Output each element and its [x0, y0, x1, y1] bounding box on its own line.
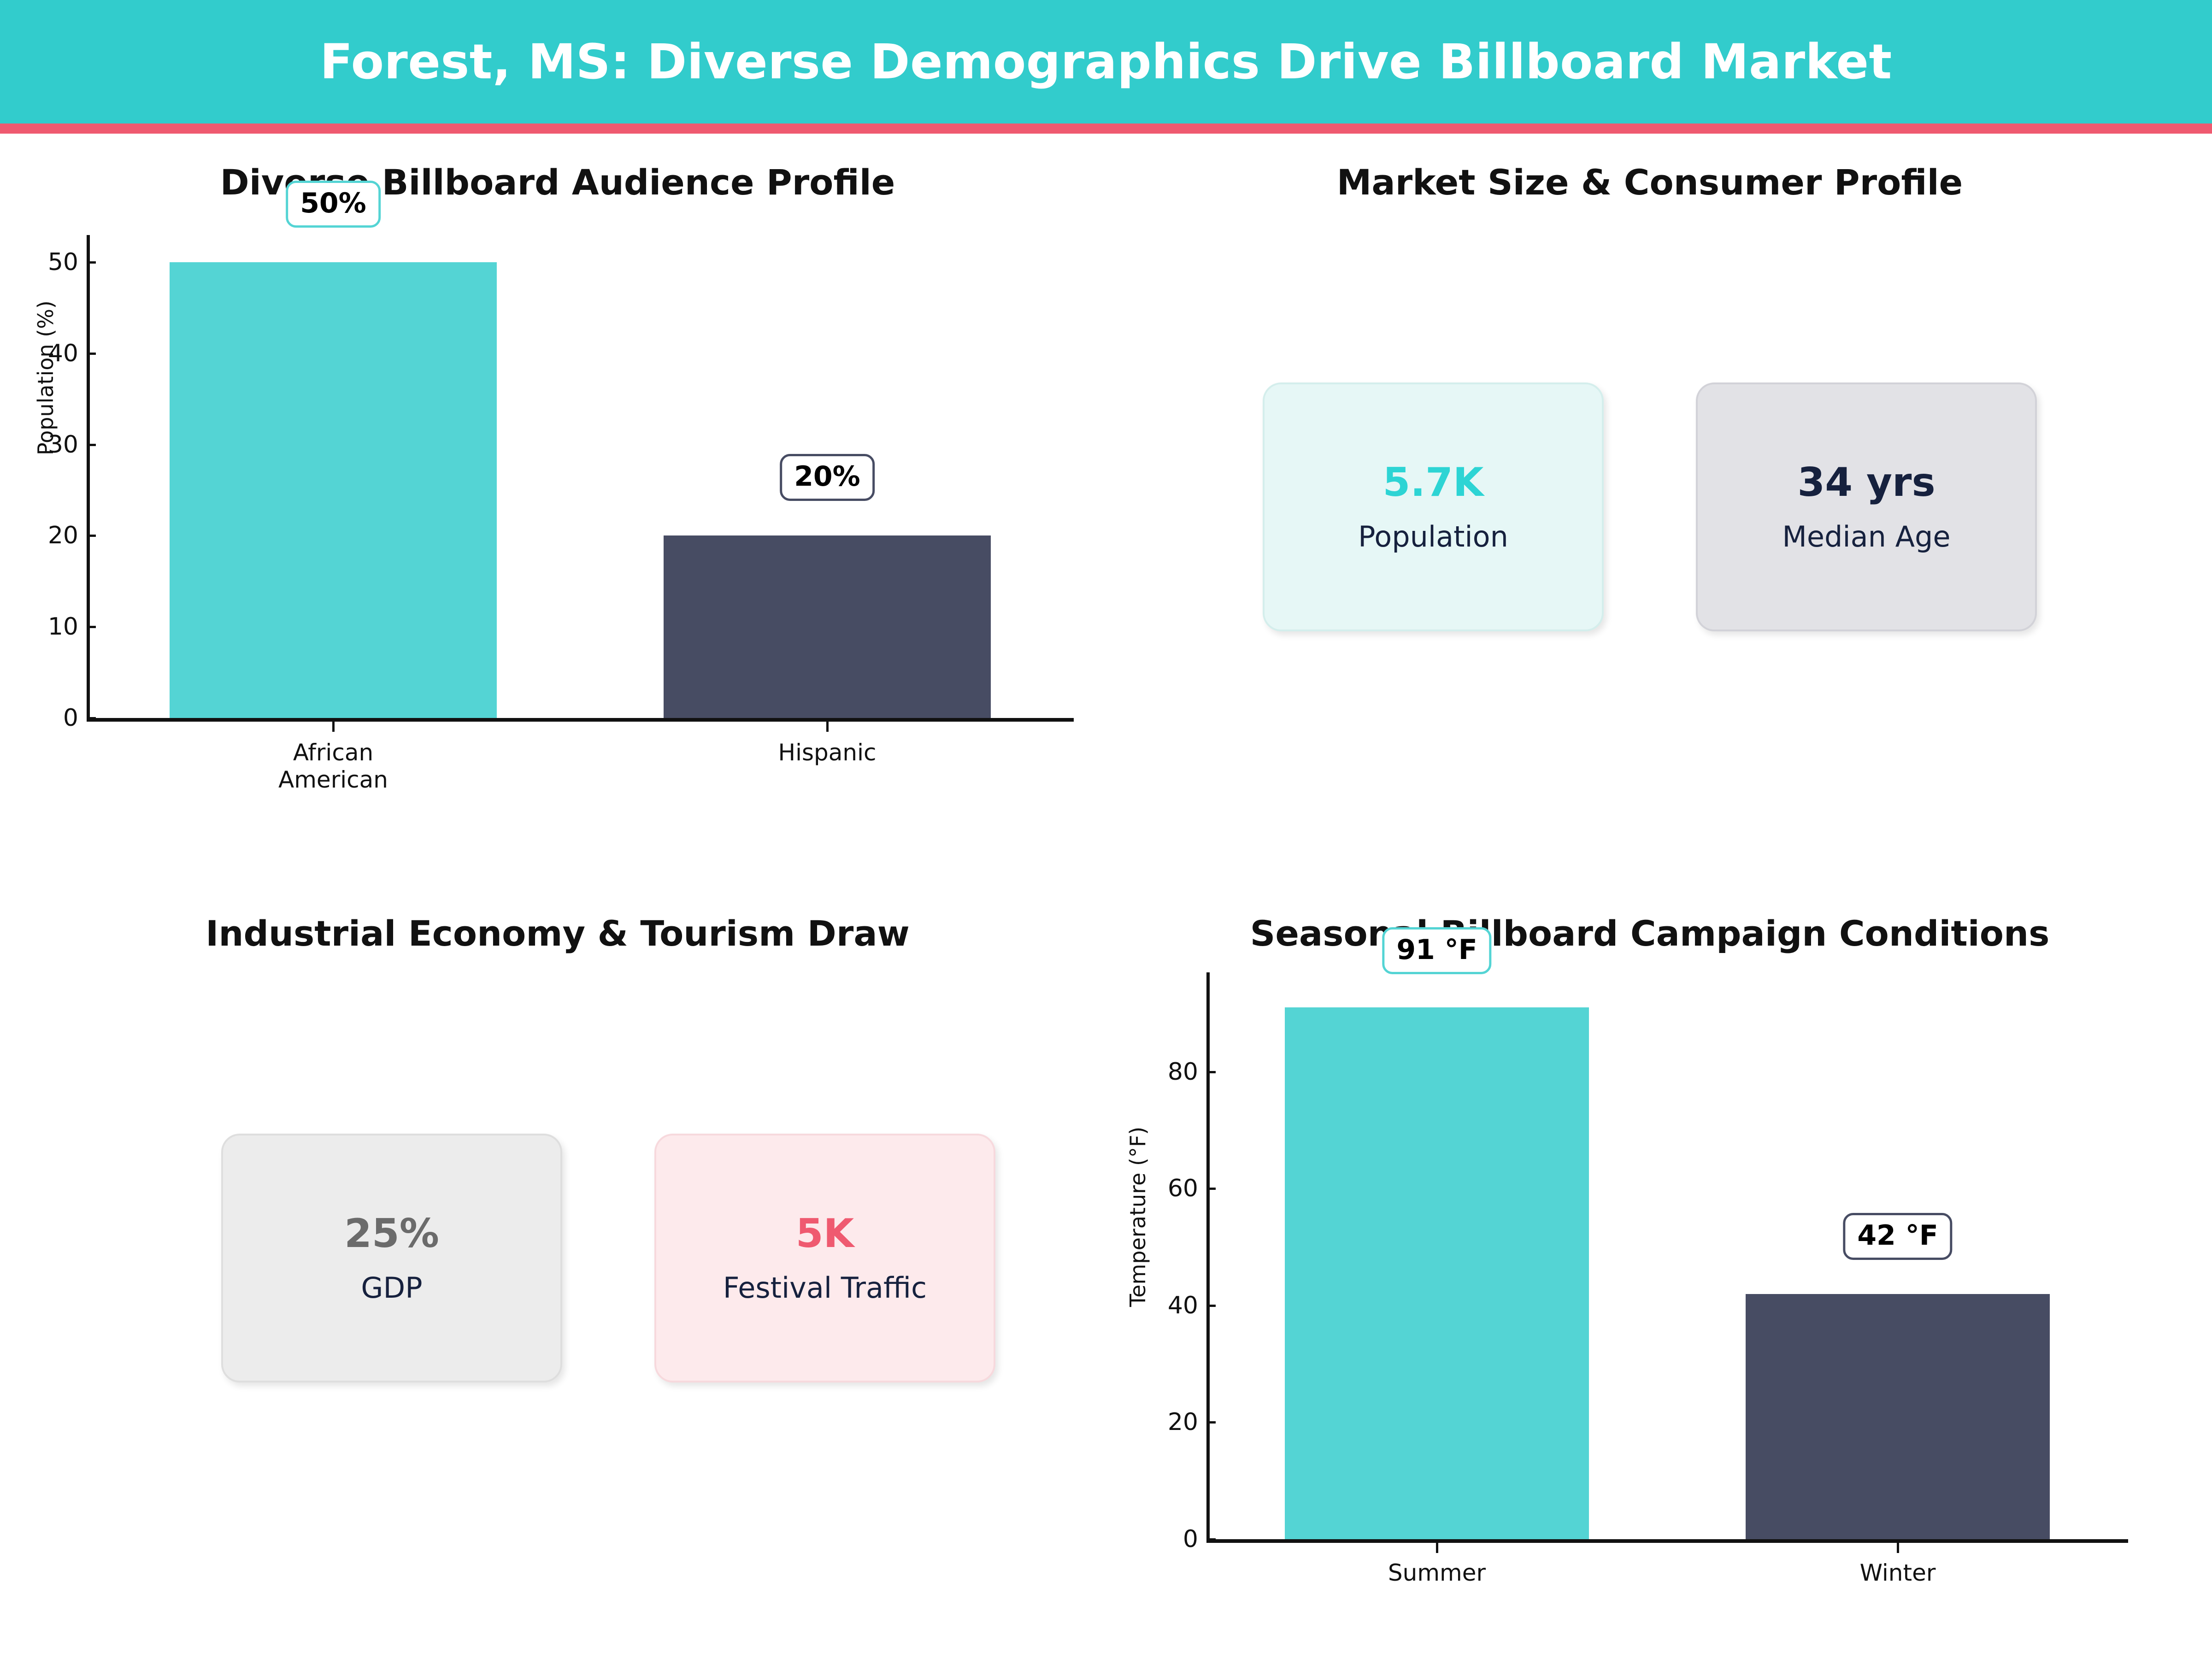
- seasonal-xtick-label-summer: Summer: [1388, 1559, 1486, 1587]
- panel-market-title: Market Size & Consumer Profile: [1120, 165, 2180, 200]
- kpi-card-gdp[interactable]: 25% GDP: [221, 1134, 562, 1382]
- seasonal-xtick-mark-0: [1436, 1543, 1438, 1553]
- panel-economy: Industrial Economy & Tourism Draw 25% GD…: [28, 903, 1088, 1650]
- audience-bar-label-african-american: 50%: [286, 181, 381, 228]
- audience-bar-label-hispanic: 20%: [780, 454, 875, 501]
- audience-bar-hispanic[interactable]: [664, 535, 991, 718]
- seasonal-xtick-mark-1: [1897, 1543, 1899, 1553]
- panel-seasonal-title: Seasonal Billboard Campaign Conditions: [1120, 916, 2180, 951]
- panel-economy-title: Industrial Economy & Tourism Draw: [28, 916, 1088, 951]
- seasonal-y-spine: [1206, 972, 1210, 1541]
- audience-ytick-mark-10: [87, 626, 96, 628]
- market-kpi-row: 5.7K Population 34 yrs Median Age: [1263, 382, 2037, 631]
- seasonal-bar-label-winter: 42 °F: [1843, 1213, 1952, 1260]
- audience-y-spine: [87, 235, 90, 720]
- seasonal-bar-summer[interactable]: [1285, 1007, 1589, 1539]
- panel-audience-title: Diverse Billboard Audience Profile: [28, 165, 1088, 200]
- audience-xtick-mark-1: [826, 722, 829, 732]
- seasonal-xtick-label-winter: Winter: [1860, 1559, 1936, 1587]
- audience-x-spine: [87, 718, 1074, 722]
- kpi-value-median-age: 34 yrs: [1797, 463, 1935, 502]
- page-title: Forest, MS: Diverse Demographics Drive B…: [320, 38, 1892, 86]
- seasonal-y-axis-label: Temperature (°F): [1125, 1055, 1153, 1378]
- panel-market: Market Size & Consumer Profile 5.7K Popu…: [1120, 152, 2180, 899]
- kpi-label-population: Population: [1358, 523, 1508, 551]
- audience-ytick-mark-50: [87, 261, 96, 264]
- panel-audience: Diverse Billboard Audience Profile Popul…: [28, 152, 1088, 899]
- kpi-value-gdp: 25%: [344, 1214, 439, 1253]
- header-accent-rule: [0, 124, 2212, 134]
- seasonal-x-spine: [1206, 1539, 2128, 1543]
- seasonal-ytick-mark-40: [1206, 1305, 1216, 1307]
- kpi-label-festival-traffic: Festival Traffic: [723, 1274, 927, 1302]
- kpi-card-festival-traffic[interactable]: 5K Festival Traffic: [654, 1134, 995, 1382]
- audience-ytick-mark-0: [87, 717, 96, 719]
- kpi-label-median-age: Median Age: [1782, 523, 1950, 551]
- seasonal-bar-winter[interactable]: [1746, 1294, 2050, 1539]
- audience-xtick-mark-0: [332, 722, 335, 732]
- seasonal-ytick-mark-20: [1206, 1421, 1216, 1424]
- kpi-label-gdp: GDP: [361, 1274, 422, 1302]
- audience-ytick-mark-20: [87, 535, 96, 537]
- seasonal-ytick-mark-60: [1206, 1188, 1216, 1190]
- kpi-card-median-age[interactable]: 34 yrs Median Age: [1696, 382, 2037, 631]
- audience-ytick-mark-40: [87, 353, 96, 355]
- audience-bar-african-american[interactable]: [170, 262, 497, 718]
- audience-xtick-label-hispanic: Hispanic: [778, 739, 877, 766]
- header-bar: Forest, MS: Diverse Demographics Drive B…: [0, 0, 2212, 124]
- kpi-value-population: 5.7K: [1383, 463, 1484, 502]
- kpi-value-festival-traffic: 5K: [796, 1214, 854, 1253]
- economy-kpi-row: 25% GDP 5K Festival Traffic: [221, 1134, 995, 1382]
- audience-ytick-mark-30: [87, 444, 96, 446]
- seasonal-ytick-mark-80: [1206, 1071, 1216, 1073]
- seasonal-bar-label-summer: 91 °F: [1382, 927, 1491, 974]
- panel-seasonal: Seasonal Billboard Campaign Conditions T…: [1120, 903, 2180, 1650]
- audience-y-axis-label: Population (%): [33, 235, 61, 521]
- audience-xtick-label-african-american: African American: [278, 739, 388, 794]
- kpi-card-population[interactable]: 5.7K Population: [1263, 382, 1604, 631]
- seasonal-ytick-mark-0: [1206, 1538, 1216, 1541]
